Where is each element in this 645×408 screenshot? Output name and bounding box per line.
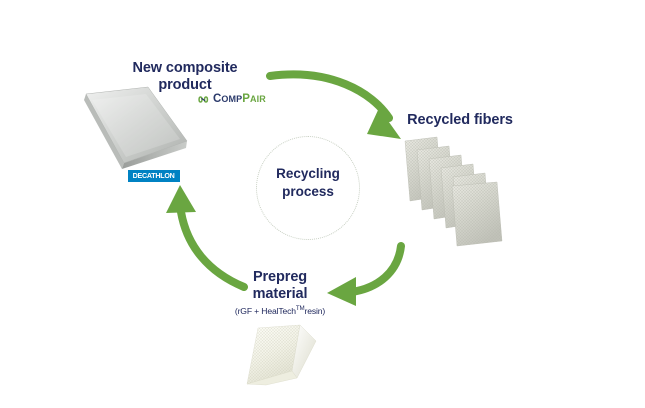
prepreg-subtitle-pre: (rGF + HealTech — [235, 306, 296, 316]
prepreg-line2: material — [220, 286, 340, 303]
arrow-composite-to-fibers — [270, 74, 401, 139]
prepreg-subtitle-post: resin) — [305, 306, 326, 316]
new-composite-line1: New composite — [110, 60, 260, 77]
prepreg-line1: Prepreg — [220, 269, 340, 286]
new-composite-line2: product — [110, 77, 260, 94]
recycling-process-label: Recycling process — [256, 165, 360, 200]
recycled-fibers-label: Recycled fibers — [395, 112, 525, 129]
infinity-loop-icon — [197, 95, 210, 104]
decathlon-wordmark: DECATHLON — [133, 173, 175, 180]
center-label-line1: Recycling — [256, 165, 360, 183]
prepreg-material-subtitle: (rGF + HealTechTMresin) — [210, 305, 350, 316]
comppair-wordmark: COMPPAIR — [213, 93, 266, 105]
decathlon-logo: DECATHLON — [128, 170, 180, 182]
new-composite-product-label: New composite product — [110, 60, 260, 94]
comppair-logo: COMPPAIR — [197, 93, 266, 105]
trademark-mark: TM — [296, 305, 305, 312]
recycling-loop-diagram: Recycling process New composite product … — [0, 0, 645, 408]
prepreg-material-label: Prepreg material — [220, 269, 340, 303]
center-label-line2: process — [256, 183, 360, 201]
